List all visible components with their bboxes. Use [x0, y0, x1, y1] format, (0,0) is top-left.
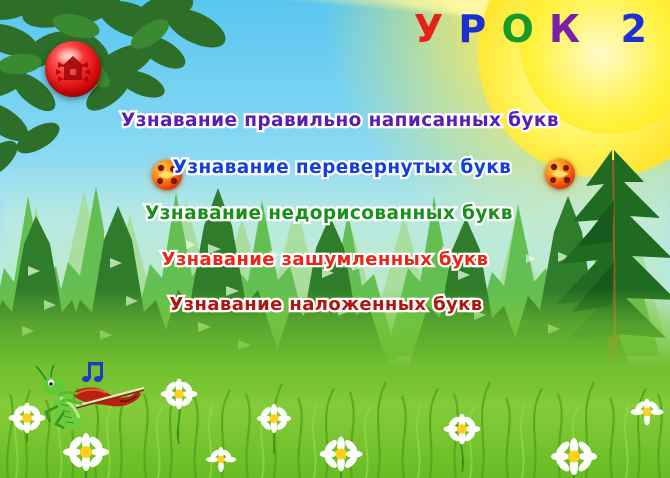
- title-letter: К: [549, 10, 581, 48]
- daisy-flower: [256, 404, 292, 454]
- daisy-flower: [630, 398, 664, 432]
- daisy-flower: [62, 432, 110, 478]
- grasshopper-violinist: [32, 362, 150, 432]
- title-number: 2: [621, 10, 648, 48]
- home-icon: [52, 48, 94, 90]
- daisy-flower: [318, 436, 364, 478]
- daisy-flower: [206, 446, 236, 478]
- menu-item-correct-letters[interactable]: Узнавание правильно написанных букв Узна…: [10, 110, 670, 131]
- menu-item-noisy-letters[interactable]: Узнавание зашумленных букв Узнавание заш…: [0, 249, 670, 270]
- menu-item-label-3: Узнавание недорисованных букв: [145, 203, 513, 224]
- title-letter: О: [501, 10, 534, 48]
- daisy-flower: [548, 438, 600, 478]
- title-letter: У: [414, 10, 444, 48]
- lesson-title: У Р О К 2: [414, 10, 648, 48]
- home-button[interactable]: [45, 41, 101, 97]
- menu-item-label-2: Узнавание перевернутых букв: [173, 157, 512, 178]
- menu-item-overlapping-letters[interactable]: Узнавание наложенных букв Узнавание нало…: [0, 294, 670, 315]
- daisy-flower: [8, 402, 46, 442]
- grasshopper-icon: [32, 362, 150, 432]
- menu-item-incomplete-letters[interactable]: Узнавание недорисованных букв Узнавание …: [0, 203, 670, 224]
- lesson-menu-screen: У Р О К 2 Узнавание правильно написанных…: [0, 0, 670, 478]
- music-note-icon: [82, 362, 103, 382]
- task-menu: Узнавание правильно написанных букв Узна…: [0, 110, 670, 315]
- daisy-flower: [442, 414, 482, 472]
- menu-item-label-5: Узнавание наложенных букв: [169, 294, 482, 315]
- menu-item-reversed-letters[interactable]: Узнавание перевернутых букв Узнавание пе…: [14, 157, 670, 178]
- title-letter: Р: [458, 10, 487, 48]
- daisy-flower: [160, 378, 198, 444]
- menu-item-label-1: Узнавание правильно написанных букв: [121, 110, 559, 131]
- menu-item-label-4: Узнавание зашумленных букв: [162, 249, 489, 270]
